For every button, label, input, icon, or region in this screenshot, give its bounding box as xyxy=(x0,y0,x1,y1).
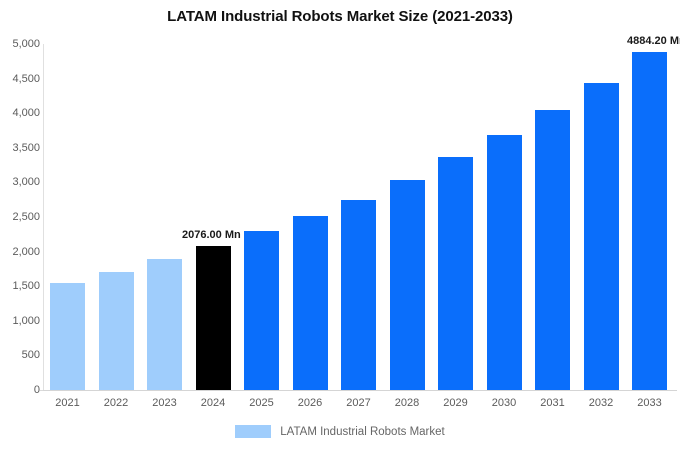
bar-2031[interactable] xyxy=(535,110,570,390)
y-axis-tick-label: 1,500 xyxy=(4,280,40,292)
y-axis-tick-label: 0 xyxy=(4,384,40,396)
bar-2022[interactable] xyxy=(99,272,134,390)
bar-2032[interactable] xyxy=(584,83,619,390)
data-label-2024: 2076.00 Mn xyxy=(182,229,241,241)
y-axis-tick-label: 4,500 xyxy=(4,73,40,85)
x-axis-line xyxy=(43,390,677,391)
bar-2030[interactable] xyxy=(487,135,522,390)
chart-title: LATAM Industrial Robots Market Size (202… xyxy=(0,8,680,25)
bar-2024[interactable] xyxy=(196,246,231,390)
axis-tick-mark xyxy=(40,390,43,391)
y-axis-tick-label: 4,000 xyxy=(4,107,40,119)
bar-chart: LATAM Industrial Robots Market Size (202… xyxy=(0,0,680,450)
data-label-2033: 4884.20 Mn xyxy=(627,35,680,47)
chart-legend: LATAM Industrial Robots Market xyxy=(0,425,680,438)
legend-swatch-historical xyxy=(235,425,271,438)
bar-2021[interactable] xyxy=(50,283,85,390)
y-axis-tick-label: 2,500 xyxy=(4,211,40,223)
bar-2023[interactable] xyxy=(147,259,182,390)
y-axis-tick-label: 5,000 xyxy=(4,38,40,50)
bar-2033[interactable] xyxy=(632,52,667,390)
y-axis-tick-label: 500 xyxy=(4,349,40,361)
y-axis-tick-label: 2,000 xyxy=(4,246,40,258)
plot-area xyxy=(44,44,676,390)
y-axis-tick-label: 3,500 xyxy=(4,142,40,154)
y-axis-tick-label: 1,000 xyxy=(4,315,40,327)
legend-label: LATAM Industrial Robots Market xyxy=(280,426,444,438)
bar-2025[interactable] xyxy=(244,231,279,390)
bar-2029[interactable] xyxy=(438,157,473,390)
bar-2028[interactable] xyxy=(390,180,425,390)
y-axis-tick-label: 3,000 xyxy=(4,176,40,188)
x-axis-tick-label-2033: 2033 xyxy=(622,397,678,409)
y-axis: 05001,0001,5002,0002,5003,0003,5004,0004… xyxy=(0,0,40,450)
bar-2026[interactable] xyxy=(293,216,328,390)
bar-2027[interactable] xyxy=(341,200,376,390)
